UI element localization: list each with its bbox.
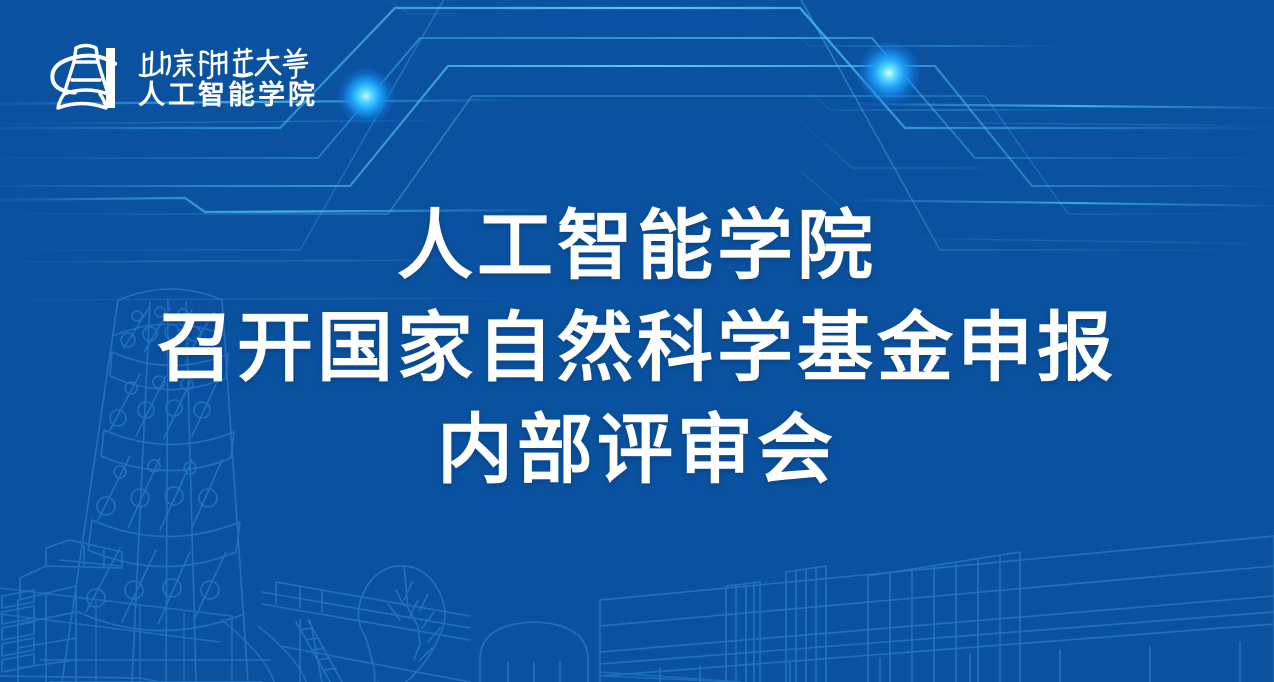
ai-monogram-orbit-icon xyxy=(46,34,124,116)
tree-art xyxy=(358,566,444,682)
library-building-art xyxy=(480,536,1274,682)
left-buildings-art xyxy=(2,540,122,682)
title-line-1: 人工智能学院 xyxy=(0,196,1274,298)
logo-wordmark: 人工智能学院 xyxy=(138,42,318,109)
walkway-art xyxy=(262,582,470,682)
college-name-label: 人工智能学院 xyxy=(138,82,318,109)
title-line-2: 召开国家自然科学基金申报 xyxy=(0,298,1274,400)
glow-dot-left xyxy=(338,68,394,124)
title-line-3: 内部评审会 xyxy=(0,400,1274,502)
fence-art xyxy=(600,672,740,682)
institution-logo-block: 人工智能学院 xyxy=(46,34,318,116)
foreground-rail-art xyxy=(0,676,160,682)
banner-poster: 人工智能学院 人工智能学院 召开国家自然科学基金申报 内部评审会 xyxy=(0,0,1274,682)
glow-dot-right xyxy=(858,42,920,104)
page-title: 人工智能学院 召开国家自然科学基金申报 内部评审会 xyxy=(0,196,1274,502)
university-name-calligraphy xyxy=(138,44,310,80)
plaza-ground-art xyxy=(0,588,306,682)
